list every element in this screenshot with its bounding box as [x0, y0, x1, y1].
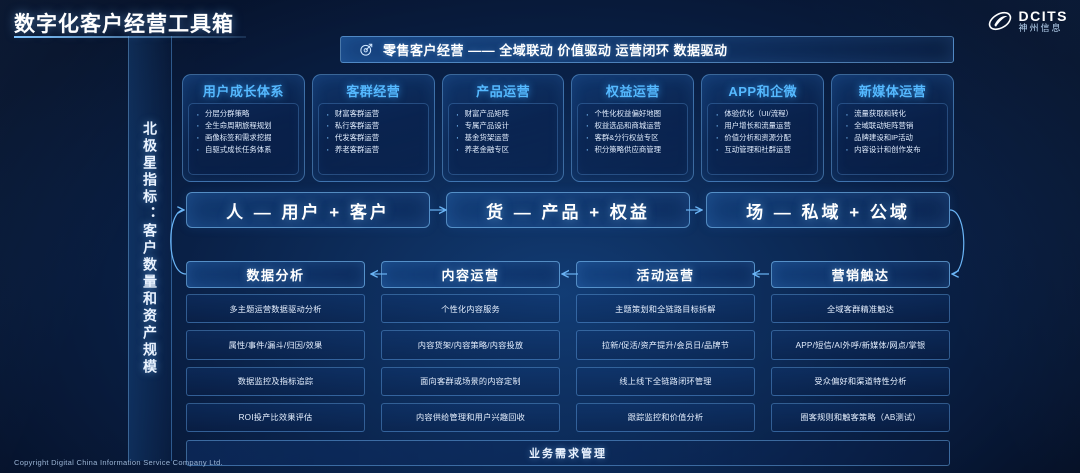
card-bullet: 基金货架运营	[454, 132, 555, 144]
detail-cell[interactable]: 内容货架/内容策略/内容投放	[381, 330, 560, 359]
dcits-swirl-logo-icon	[987, 8, 1013, 34]
detail-cell-label: 线上线下全链路闭环管理	[619, 375, 711, 387]
card-bullet: 用户增长和流量运营	[713, 120, 814, 132]
detail-cell[interactable]: 内容供给管理和用户兴趣回收	[381, 403, 560, 432]
north-star-label: 北极星指标：客户数量和资产规模	[143, 121, 157, 376]
detail-cell[interactable]: 拉新/促活/资产提升/会员日/品牌节	[576, 330, 755, 359]
detail-column-content-ops: 个性化内容服务 内容货架/内容策略/内容投放 面向客群或场景的内容定制 内容供给…	[381, 294, 560, 432]
page-title: 数字化客户经营工具箱	[14, 8, 234, 38]
detail-cell-label: 内容供给管理和用户兴趣回收	[416, 411, 525, 423]
detail-cell-label: 受众偏好和渠道特性分析	[814, 375, 906, 387]
detail-column-marketing-reach: 全域客群精准触达 APP/短信/AI外呼/新媒体/网点/掌银 受众偏好和渠道特性…	[771, 294, 950, 432]
card-bullet: 专属产品设计	[454, 120, 555, 132]
card-bullet: 私行客群运营	[324, 120, 425, 132]
flow-pills: 人 — 用户 + 客户 货 — 产品 + 权益 场 — 私域 + 公域	[186, 192, 950, 228]
card-bullet: 互动管理和社群运营	[713, 144, 814, 156]
card-title: 权益运营	[577, 80, 688, 103]
business-requirement-label: 业务需求管理	[529, 445, 607, 461]
detail-cell-label: 内容货架/内容策略/内容投放	[418, 339, 524, 351]
card-body: 分层分群策略 全生命周期旅程规划 画像标签和需求挖掘 自驱式成长任务体系	[188, 103, 299, 175]
card-title: 产品运营	[448, 80, 559, 103]
detail-grid: 多主题运营数据驱动分析 属性/事件/漏斗/归因/效果 数据监控及指标追踪 ROI…	[186, 294, 950, 432]
detail-cell[interactable]: 主题策划和全链路目标拆解	[576, 294, 755, 323]
card-bullet: 养老金融专区	[454, 144, 555, 156]
capability-card[interactable]: 产品运营 财富产品矩阵 专属产品设计 基金货架运营 养老金融专区	[442, 74, 565, 182]
copyright-text: Copyright Digital China Information Serv…	[14, 458, 223, 467]
card-bullet: 自驱式成长任务体系	[194, 144, 295, 156]
detail-cell[interactable]: 线上线下全链路闭环管理	[576, 367, 755, 396]
detail-cell-label: 跟踪监控和价值分析	[628, 411, 704, 423]
detail-cell-label: 面向客群或场景的内容定制	[420, 375, 521, 387]
arrow-data-loop-to-people	[171, 210, 186, 274]
detail-cell[interactable]: ROI投产比效果评估	[186, 403, 365, 432]
flow-pill-people[interactable]: 人 — 用户 + 客户	[186, 192, 430, 228]
capability-cards: 用户成长体系 分层分群策略 全生命周期旅程规划 画像标签和需求挖掘 自驱式成长任…	[182, 74, 954, 182]
detail-cell[interactable]: 个性化内容服务	[381, 294, 560, 323]
card-bullet: 流量获取和转化	[843, 108, 944, 120]
card-bullet: 个性化权益偏好地图	[583, 108, 684, 120]
detail-cell[interactable]: 圈客规则和触客策略（AB测试）	[771, 403, 950, 432]
stage-header-campaign-ops[interactable]: 活动运营	[576, 261, 755, 288]
flow-pill-label: 货 — 产品 + 权益	[486, 198, 650, 223]
card-bullet: 内容设计和创作发布	[843, 144, 944, 156]
detail-cell-label: 数据监控及指标追踪	[238, 375, 314, 387]
detail-cell[interactable]: 面向客群或场景的内容定制	[381, 367, 560, 396]
detail-cell-label: APP/短信/AI外呼/新媒体/网点/掌银	[796, 339, 926, 351]
detail-cell-label: 主题策划和全链路目标拆解	[615, 303, 716, 315]
detail-cell[interactable]: 属性/事件/漏斗/归因/效果	[186, 330, 365, 359]
stage-header-label: 数据分析	[246, 265, 304, 284]
flow-pill-goods[interactable]: 货 — 产品 + 权益	[446, 192, 690, 228]
flow-pill-label: 场 — 私域 + 公域	[746, 198, 910, 223]
card-body: 个性化权益偏好地图 权益选品和商城运营 客群&分行权益专区 积分策略供应商管理	[577, 103, 688, 175]
strategy-banner: 零售客户经营 —— 全域联动 价值驱动 运营闭环 数据驱动	[340, 36, 954, 63]
flow-pill-field[interactable]: 场 — 私域 + 公域	[706, 192, 950, 228]
business-requirement-bar[interactable]: 业务需求管理	[186, 440, 950, 466]
detail-cell[interactable]: 多主题运营数据驱动分析	[186, 294, 365, 323]
detail-cell-label: 圈客规则和触客策略（AB测试）	[800, 411, 920, 423]
card-body: 体验优化（UI/流程） 用户增长和流量运营 价值分析和资源分配 互动管理和社群运…	[707, 103, 818, 175]
north-star-rail: 北极星指标：客户数量和资产规模	[128, 36, 172, 461]
card-bullet: 积分策略供应商管理	[583, 144, 684, 156]
capability-card[interactable]: APP和企微 体验优化（UI/流程） 用户增长和流量运营 价值分析和资源分配 互…	[701, 74, 824, 182]
operation-stage-headers: 数据分析 内容运营 活动运营 营销触达	[186, 261, 950, 288]
detail-cell-label: 多主题运营数据驱动分析	[229, 303, 321, 315]
stage-header-label: 营销触达	[831, 265, 889, 284]
detail-cell-label: 属性/事件/漏斗/归因/效果	[229, 339, 323, 351]
card-bullet: 画像标签和需求挖掘	[194, 132, 295, 144]
detail-cell-label: 全域客群精准触达	[827, 303, 894, 315]
card-bullet: 养老客群运营	[324, 144, 425, 156]
card-bullet: 权益选品和商城运营	[583, 120, 684, 132]
detail-column-data-analysis: 多主题运营数据驱动分析 属性/事件/漏斗/归因/效果 数据监控及指标追踪 ROI…	[186, 294, 365, 432]
card-body: 财富产品矩阵 专属产品设计 基金货架运营 养老金融专区	[448, 103, 559, 175]
card-bullet: 分层分群策略	[194, 108, 295, 120]
capability-card[interactable]: 新媒体运营 流量获取和转化 全域联动矩阵营销 品牌建设和IP活动 内容设计和创作…	[831, 74, 954, 182]
card-body: 流量获取和转化 全域联动矩阵营销 品牌建设和IP活动 内容设计和创作发布	[837, 103, 948, 175]
card-body: 财富客群运营 私行客群运营 代发客群运营 养老客群运营	[318, 103, 429, 175]
stage-header-marketing-reach[interactable]: 营销触达	[771, 261, 950, 288]
stage-header-data-analysis[interactable]: 数据分析	[186, 261, 365, 288]
detail-cell[interactable]: 数据监控及指标追踪	[186, 367, 365, 396]
target-arrow-icon	[359, 42, 374, 57]
detail-cell-label: 拉新/促活/资产提升/会员日/品牌节	[602, 339, 729, 351]
stage-header-content-ops[interactable]: 内容运营	[381, 261, 560, 288]
card-bullet: 体验优化（UI/流程）	[713, 108, 814, 120]
card-bullet: 全域联动矩阵营销	[843, 120, 944, 132]
card-bullet: 价值分析和资源分配	[713, 132, 814, 144]
detail-cell-label: 个性化内容服务	[441, 303, 500, 315]
arrow-field-loop-to-reach	[950, 210, 964, 274]
card-bullet: 全生命周期旅程规划	[194, 120, 295, 132]
card-bullet: 品牌建设和IP活动	[843, 132, 944, 144]
card-title: 客群经营	[318, 80, 429, 103]
card-bullet: 代发客群运营	[324, 132, 425, 144]
detail-cell-label: ROI投产比效果评估	[239, 411, 313, 423]
card-title: 用户成长体系	[188, 80, 299, 103]
stage-header-label: 活动运营	[636, 265, 694, 284]
capability-card[interactable]: 用户成长体系 分层分群策略 全生命周期旅程规划 画像标签和需求挖掘 自驱式成长任…	[182, 74, 305, 182]
card-bullet: 客群&分行权益专区	[583, 132, 684, 144]
capability-card[interactable]: 权益运营 个性化权益偏好地图 权益选品和商城运营 客群&分行权益专区 积分策略供…	[571, 74, 694, 182]
card-bullet: 财富产品矩阵	[454, 108, 555, 120]
flow-pill-label: 人 — 用户 + 客户	[226, 198, 390, 223]
capability-card[interactable]: 客群经营 财富客群运营 私行客群运营 代发客群运营 养老客群运营	[312, 74, 435, 182]
detail-cell[interactable]: 跟踪监控和价值分析	[576, 403, 755, 432]
card-title: APP和企微	[707, 80, 818, 103]
logo-en-text: DCITS	[1019, 9, 1069, 24]
card-title: 新媒体运营	[837, 80, 948, 103]
detail-cell[interactable]: 全域客群精准触达	[771, 294, 950, 323]
stage-header-label: 内容运营	[441, 265, 499, 284]
detail-column-campaign-ops: 主题策划和全链路目标拆解 拉新/促活/资产提升/会员日/品牌节 线上线下全链路闭…	[576, 294, 755, 432]
banner-text: 零售客户经营 —— 全域联动 价值驱动 运营闭环 数据驱动	[383, 40, 728, 59]
logo-cn-text: 神州信息	[1019, 24, 1069, 33]
card-bullet: 财富客群运营	[324, 108, 425, 120]
detail-cell[interactable]: APP/短信/AI外呼/新媒体/网点/掌银	[771, 330, 950, 359]
detail-cell[interactable]: 受众偏好和渠道特性分析	[771, 367, 950, 396]
brand-logo: DCITS 神州信息	[987, 8, 1069, 34]
